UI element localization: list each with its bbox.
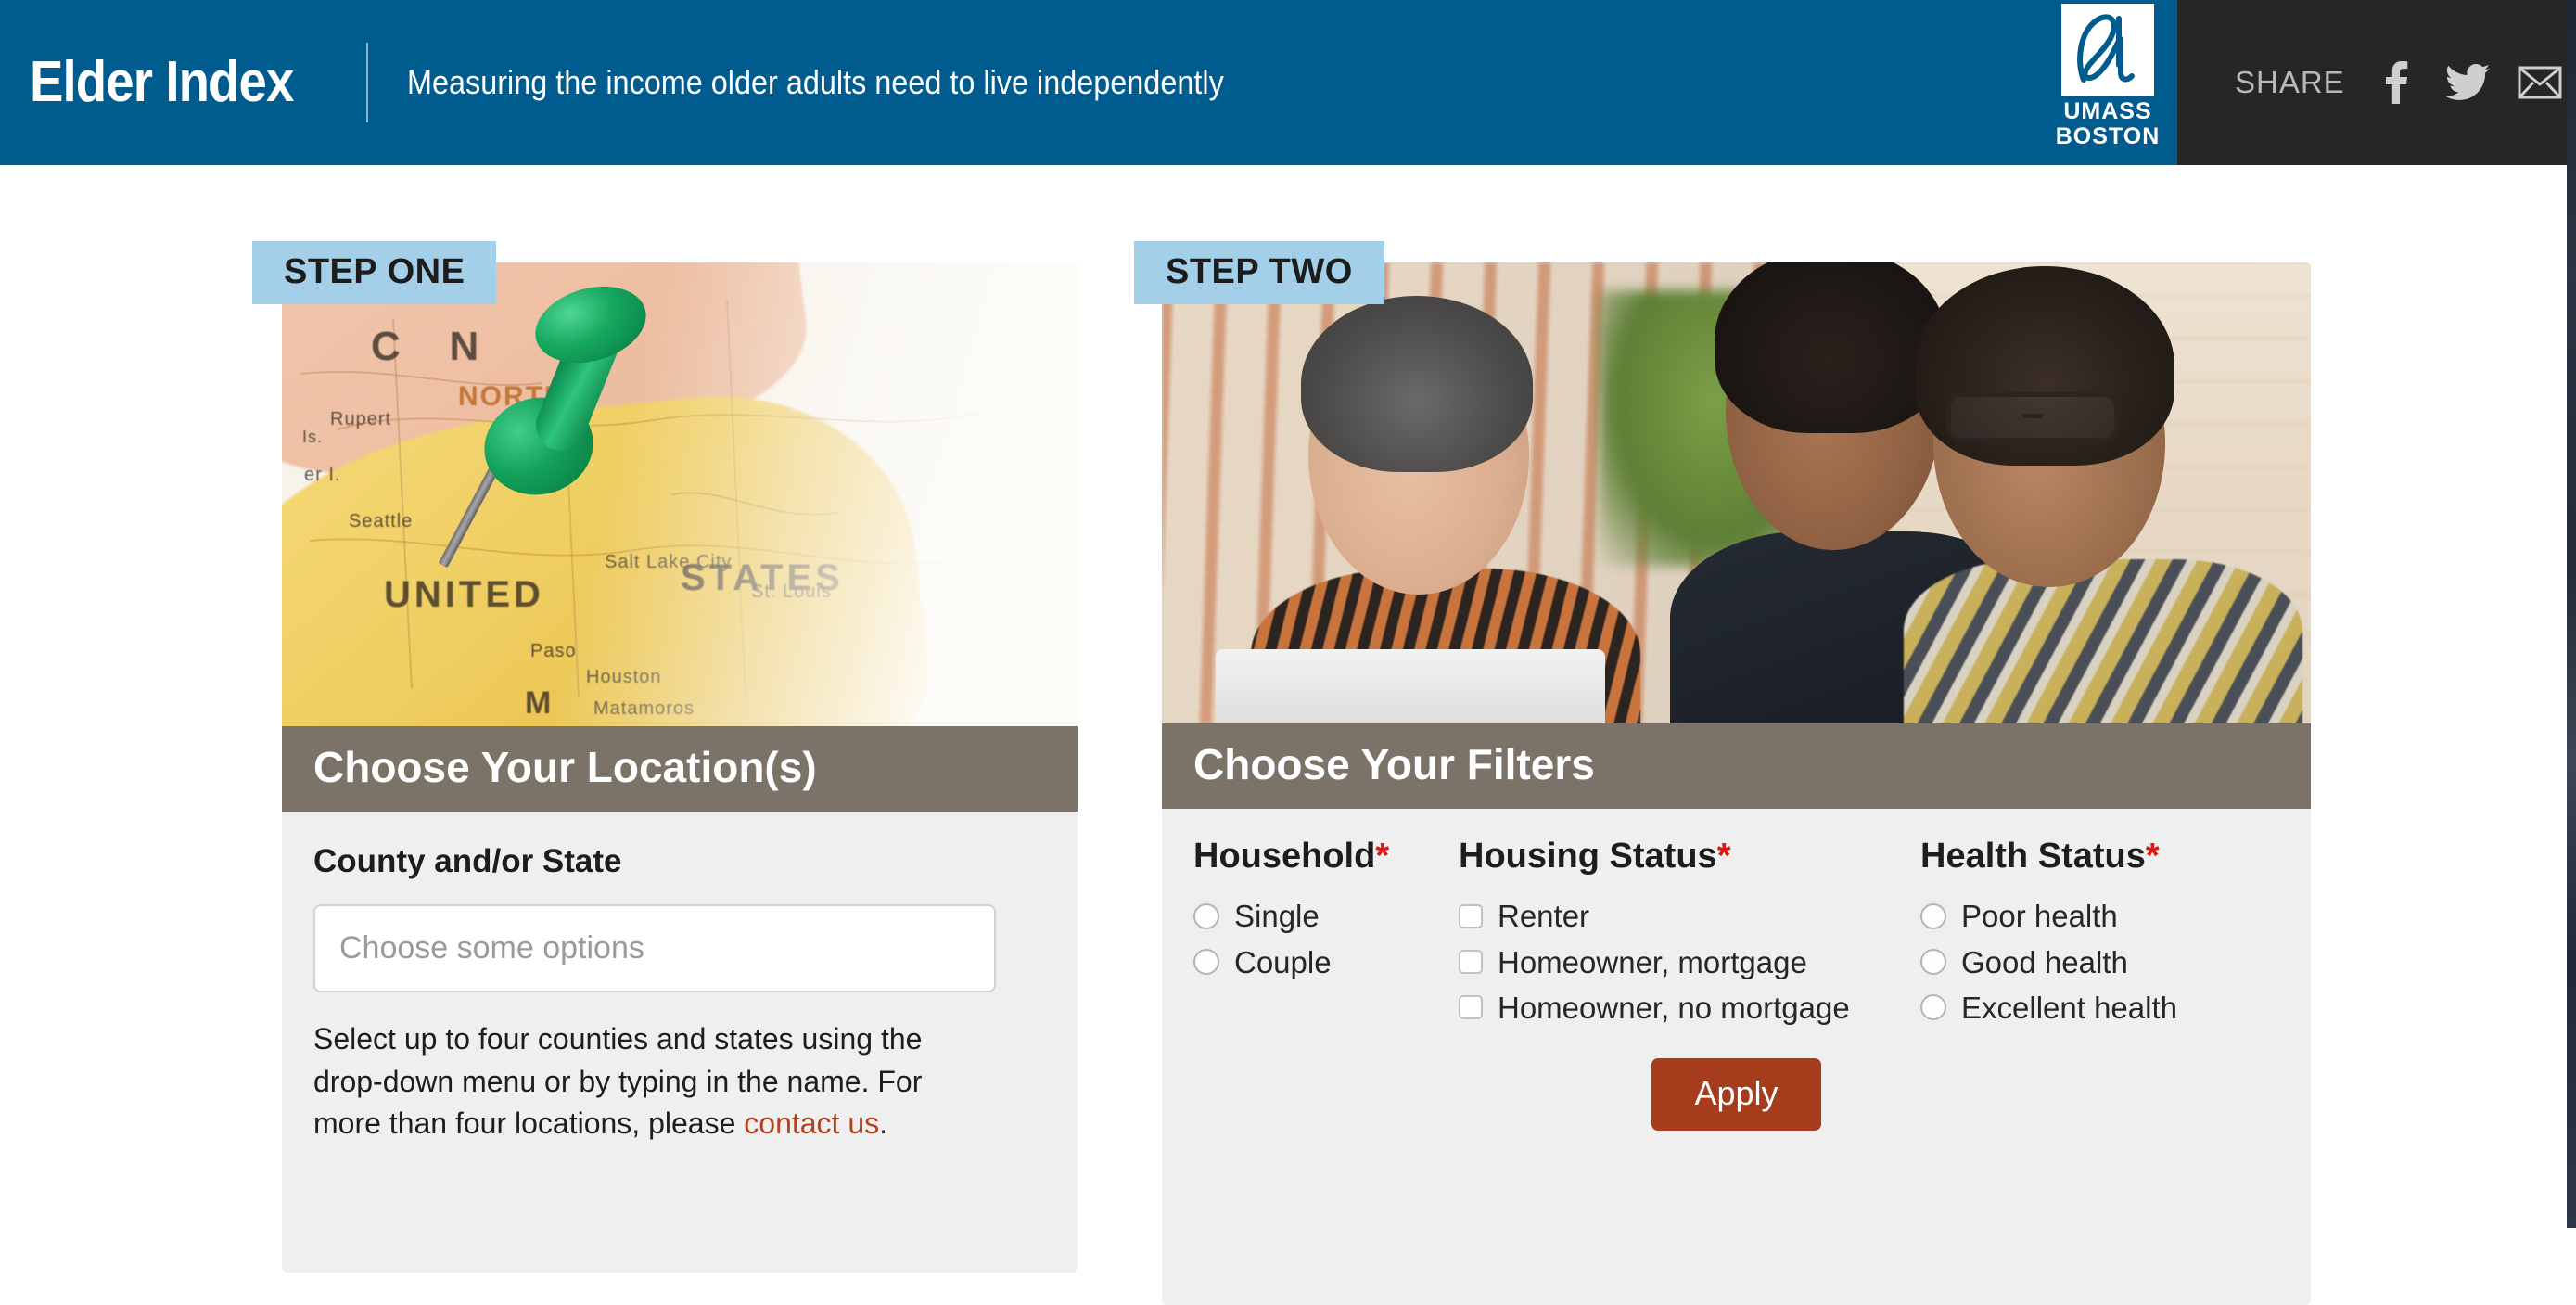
option-label: Couple <box>1234 943 1332 981</box>
step-two-badge: STEP TWO <box>1134 241 1384 304</box>
radio-icon[interactable] <box>1193 903 1219 929</box>
checkbox-housing-homeowner-mortgage[interactable]: Homeowner, mortgage <box>1459 943 1920 981</box>
option-label: Homeowner, mortgage <box>1498 943 1807 981</box>
radio-icon[interactable] <box>1920 994 1946 1020</box>
location-photo: C N NORTH Rupert Is. er I. Seattle UNITE… <box>282 262 1078 726</box>
page-content: C N NORTH Rupert Is. er I. Seattle UNITE… <box>0 165 2576 1228</box>
site-tagline: Measuring the income older adults need t… <box>407 63 1224 102</box>
radio-health-good[interactable]: Good health <box>1920 943 2273 981</box>
apply-button[interactable]: Apply <box>1651 1058 1820 1131</box>
household-heading: Household* <box>1193 837 1459 876</box>
checkbox-icon[interactable] <box>1459 950 1483 974</box>
location-select-placeholder: Choose some options <box>339 930 644 966</box>
email-icon[interactable] <box>2518 60 2562 105</box>
step-one-badge: STEP ONE <box>252 241 496 304</box>
county-state-label: County and/or State <box>313 843 1046 880</box>
radio-health-excellent[interactable]: Excellent health <box>1920 989 2273 1027</box>
umass-logo-line1: UMASS <box>2056 99 2161 124</box>
radio-household-couple[interactable]: Couple <box>1193 943 1459 981</box>
umass-logo-text: UMASS BOSTON <box>2056 99 2161 148</box>
umass-logo-line2: BOSTON <box>2056 124 2161 149</box>
radio-icon[interactable] <box>1193 949 1219 975</box>
option-label: Poor health <box>1961 897 2118 935</box>
health-status-heading-label: Health Status <box>1920 837 2146 876</box>
map-depth-fade <box>282 262 1078 726</box>
photo-person-1-hair <box>1301 296 1533 472</box>
checkbox-housing-renter[interactable]: Renter <box>1459 897 1920 935</box>
option-label: Good health <box>1961 943 2128 981</box>
site-header: Elder Index Measuring the income older a… <box>0 0 2576 165</box>
filters-photo <box>1162 262 2311 723</box>
umass-monogram-icon <box>2061 4 2154 96</box>
photo-person-2-hair <box>1715 262 1946 433</box>
step-one-body: County and/or State Choose some options … <box>282 812 1078 1145</box>
brand-divider <box>366 43 368 122</box>
location-select[interactable]: Choose some options <box>313 904 996 992</box>
health-status-required-asterisk: * <box>2146 837 2160 876</box>
housing-status-required-asterisk: * <box>1717 837 1731 876</box>
option-label: Homeowner, no mortgage <box>1498 989 1850 1027</box>
background-window-sliver[interactable] <box>2567 0 2576 1228</box>
step-one-titlebar: Choose Your Location(s) <box>282 726 1078 812</box>
option-label: Single <box>1234 897 1320 935</box>
step-one-title: Choose Your Location(s) <box>313 745 1046 789</box>
housing-status-heading-label: Housing Status <box>1459 837 1717 876</box>
radio-health-poor[interactable]: Poor health <box>1920 897 2273 935</box>
option-label: Renter <box>1498 897 1589 935</box>
filter-group-health-status: Health Status* Poor health Good health E… <box>1920 837 2273 1027</box>
share-label: SHARE <box>2235 65 2345 100</box>
people-photo-art <box>1162 262 2311 723</box>
radio-icon[interactable] <box>1920 903 1946 929</box>
radio-household-single[interactable]: Single <box>1193 897 1459 935</box>
step-one-card: C N NORTH Rupert Is. er I. Seattle UNITE… <box>282 262 1078 1273</box>
checkbox-icon[interactable] <box>1459 904 1483 928</box>
apply-button-row: Apply <box>1162 1027 2311 1131</box>
household-heading-label: Household <box>1193 837 1375 876</box>
share-bar: SHARE <box>2177 0 2576 165</box>
photo-laptop <box>1216 649 1605 723</box>
filters-row: Household* Single Couple Housing Status*… <box>1162 809 2311 1027</box>
contact-us-link[interactable]: contact us <box>744 1107 879 1140</box>
umass-boston-logo[interactable]: UMASS BOSTON <box>2038 0 2177 165</box>
site-logo-title[interactable]: Elder Index <box>30 54 293 111</box>
household-required-asterisk: * <box>1375 837 1389 876</box>
facebook-icon[interactable] <box>2373 60 2417 105</box>
filter-group-household: Household* Single Couple <box>1193 837 1459 1027</box>
twitter-icon[interactable] <box>2445 60 2490 105</box>
brand-zone: Elder Index Measuring the income older a… <box>0 0 2038 165</box>
photo-person-3-body <box>1904 559 2302 723</box>
option-label: Excellent health <box>1961 989 2177 1027</box>
step-two-titlebar: Choose Your Filters <box>1162 723 2311 809</box>
location-helper-text: Select up to four counties and states us… <box>313 1018 981 1145</box>
checkbox-icon[interactable] <box>1459 995 1483 1019</box>
housing-status-heading: Housing Status* <box>1459 837 1920 876</box>
step-two-title: Choose Your Filters <box>1193 742 2279 787</box>
step-two-card: Choose Your Filters Household* Single Co… <box>1162 262 2311 1305</box>
checkbox-housing-homeowner-no-mortgage[interactable]: Homeowner, no mortgage <box>1459 989 1920 1027</box>
filter-group-housing-status: Housing Status* Renter Homeowner, mortga… <box>1459 837 1920 1027</box>
photo-eyeglasses <box>1946 392 2119 442</box>
health-status-heading: Health Status* <box>1920 837 2273 876</box>
map-photo-art: C N NORTH Rupert Is. er I. Seattle UNITE… <box>282 262 1078 726</box>
helper-text-after: . <box>879 1107 887 1140</box>
radio-icon[interactable] <box>1920 949 1946 975</box>
